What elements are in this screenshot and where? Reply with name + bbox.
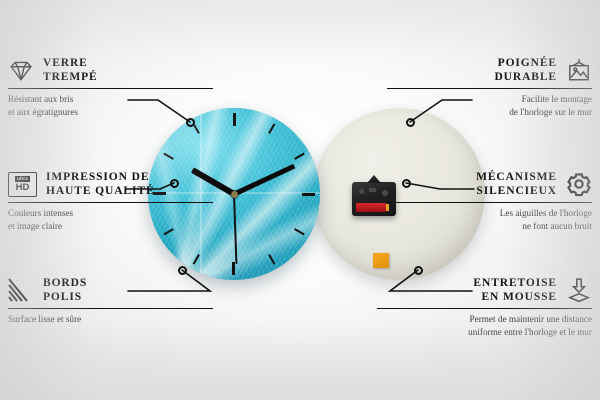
gear-icon xyxy=(566,171,592,197)
divider xyxy=(387,202,592,203)
divider xyxy=(387,88,592,89)
callout-subtitle: Surface lisse et sûre xyxy=(8,313,213,325)
divider xyxy=(8,202,213,203)
callout-subtitle: Permet de maintenir une distance uniform… xyxy=(377,313,592,337)
callout-header: ENTRETOISE EN MOUSSE xyxy=(377,276,592,304)
callout-header: POIGNÉE DURABLE xyxy=(387,56,592,84)
movement-detail-dot xyxy=(369,188,376,192)
divider xyxy=(377,308,592,309)
picture-hanger-icon xyxy=(566,57,592,83)
divider xyxy=(8,308,213,309)
callout-title: BORDS POLIS xyxy=(43,276,87,304)
callout-verre-trempe: VERRE TREMPÉ Résistant aux bris et aux é… xyxy=(8,56,213,118)
callout-title: POIGNÉE DURABLE xyxy=(494,56,557,84)
ultra-hd-badge-icon: ultra HD xyxy=(8,172,37,197)
callout-subtitle: Résistant aux bris et aux égratignures xyxy=(8,93,213,117)
connector-node xyxy=(414,266,423,275)
connector-node xyxy=(186,118,195,127)
diamond-icon xyxy=(8,57,34,83)
callout-header: VERRE TREMPÉ xyxy=(8,56,213,84)
diagonal-stripes-icon xyxy=(8,278,34,302)
callout-title: VERRE TREMPÉ xyxy=(43,56,98,84)
foam-spacer xyxy=(373,253,389,268)
callout-header: ultra HD IMPRESSION DE HAUTE QUALITÉ xyxy=(8,170,213,198)
callout-mecanisme-silencieux: MÉCANISME SILENCIEUX Les aiguilles de l'… xyxy=(387,170,592,232)
foam-spacer-icon xyxy=(566,277,592,303)
callout-title: ENTRETOISE EN MOUSSE xyxy=(473,276,557,304)
infographic-canvas: VERRE TREMPÉ Résistant aux bris et aux é… xyxy=(0,0,600,400)
movement-detail-dot xyxy=(359,189,364,194)
callout-subtitle: Facilite le montage de l'horloge sur le … xyxy=(387,93,592,117)
callout-title: MÉCANISME SILENCIEUX xyxy=(476,170,557,198)
callout-poignee-durable: POIGNÉE DURABLE Facilite le montage de l… xyxy=(387,56,592,118)
callout-title: IMPRESSION DE HAUTE QUALITÉ xyxy=(46,170,155,198)
callout-entretoise-en-mousse: ENTRETOISE EN MOUSSE Permet de maintenir… xyxy=(377,276,592,338)
connector-node xyxy=(178,266,187,275)
callout-subtitle: Couleurs intenses et image claire xyxy=(8,207,213,231)
callout-header: BORDS POLIS xyxy=(8,276,213,304)
callout-subtitle: Les aiguilles de l'horloge ne font aucun… xyxy=(387,207,592,231)
callout-bords-polis: BORDS POLIS Surface lisse et sûre xyxy=(8,276,213,326)
connector-node xyxy=(406,118,415,127)
divider xyxy=(8,88,213,89)
battery xyxy=(356,203,386,212)
callout-header: MÉCANISME SILENCIEUX xyxy=(387,170,592,198)
callout-impression-haute-qualite: ultra HD IMPRESSION DE HAUTE QUALITÉ Cou… xyxy=(8,170,213,232)
